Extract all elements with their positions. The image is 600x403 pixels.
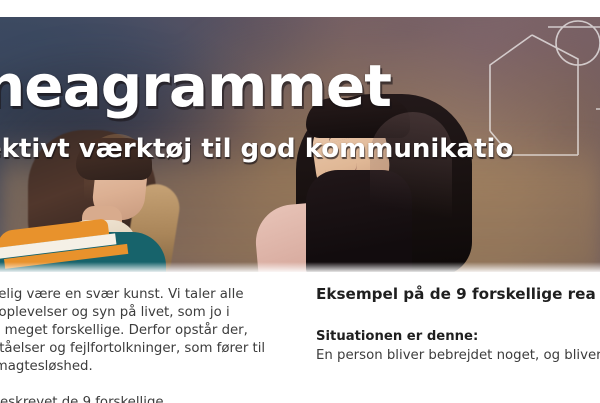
- left-paragraph-line: virkelig være en svær kunst. Vi taler al…: [0, 286, 304, 304]
- left-paragraph-line: og magtesløshed.: [0, 358, 304, 376]
- right-column-subheading: Situationen er denne:: [316, 328, 600, 346]
- left-paragraph-clipped-line: et beskrevet de 9 forskellige: [0, 394, 304, 403]
- content-area: virkelig være en svær kunst. Vi taler al…: [0, 272, 600, 403]
- page-root: neagrammet ektivt værktøj til god kommun…: [0, 0, 600, 403]
- hero-banner: neagrammet ektivt værktøj til god kommun…: [0, 17, 600, 272]
- right-column-heading: Eksempel på de 9 forskellige rea: [316, 284, 600, 304]
- left-paragraph-line: forståelser og fejlfortolkninger, som fø…: [0, 340, 304, 358]
- left-paragraph-line: res oplevelser og syn på livet, som jo i: [0, 304, 304, 322]
- left-text-column: virkelig være en svær kunst. Vi taler al…: [0, 286, 304, 403]
- hero-bottom-fade: [0, 262, 600, 272]
- right-column-body: En person bliver bebrejdet noget, og bli…: [316, 347, 600, 365]
- right-text-column: Eksempel på de 9 forskellige rea Situati…: [316, 284, 600, 365]
- top-white-strip: [0, 0, 600, 17]
- hero-title: neagrammet: [0, 57, 600, 115]
- hero-subtitle: ektivt værktøj til god kommunikatio: [0, 135, 600, 164]
- left-paragraph-line: ære meget forskellige. Derfor opstår der…: [0, 322, 304, 340]
